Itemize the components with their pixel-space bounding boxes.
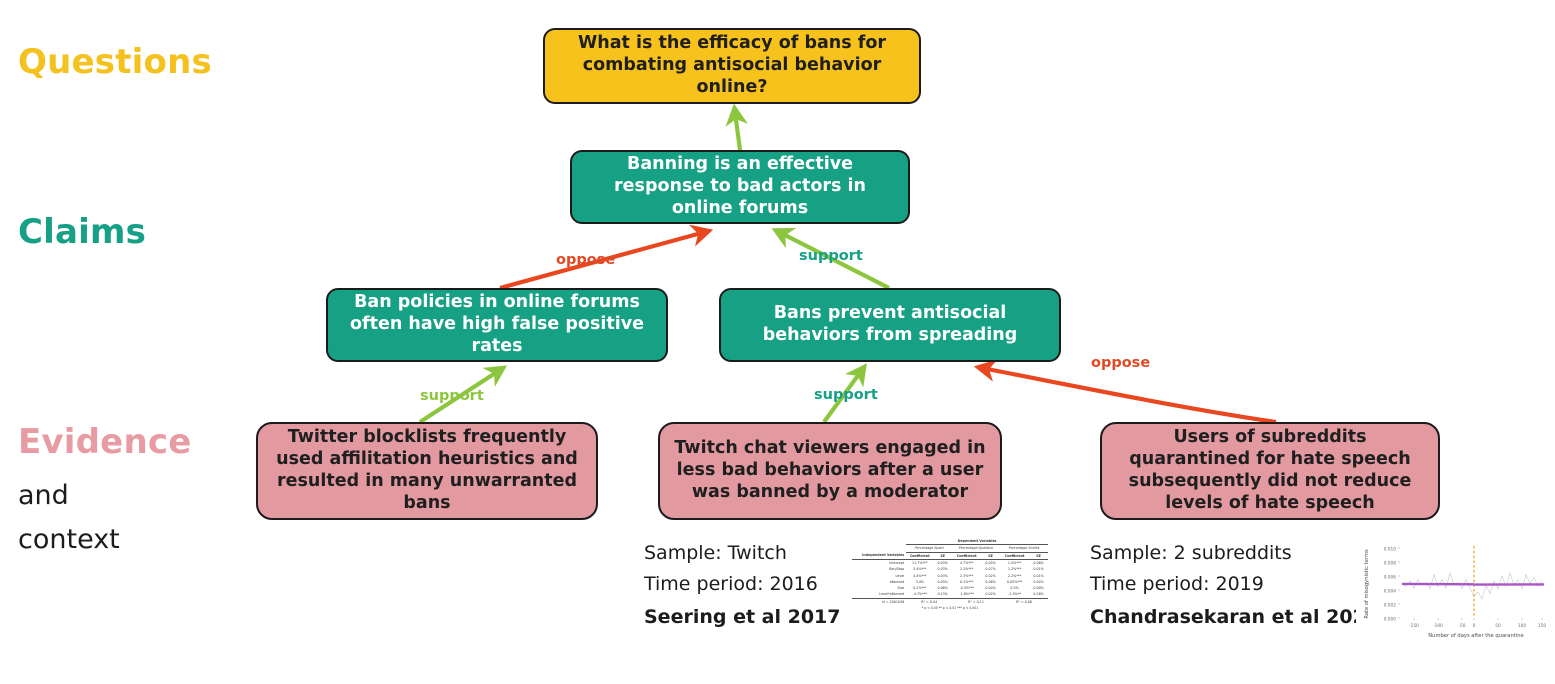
- edge-label-oppose-evidence-3: oppose: [1091, 355, 1150, 371]
- edge-label-support-evidence-1: support: [420, 388, 484, 404]
- evidence-node-twitch-chat[interactable]: Twitch chat viewers engaged in less bad …: [658, 422, 1002, 520]
- claim-node-prevent-spreading[interactable]: Bans prevent antisocial behaviors from s…: [719, 288, 1061, 362]
- claim-node-false-positives[interactable]: Ban policies in online forums often have…: [326, 288, 668, 362]
- question-node[interactable]: What is the efficacy of bans for combati…: [543, 28, 921, 104]
- edge-label-support-evidence-2: support: [814, 387, 878, 403]
- claim-node-banning-effective[interactable]: Banning is an effective response to bad …: [570, 150, 910, 224]
- diagram-canvas: Questions Claims Evidence and context: [0, 0, 1555, 684]
- evidence-node-twitter-blocklists[interactable]: Twitter blocklists frequently used affil…: [256, 422, 598, 520]
- edge-evidence-3-to-claim-right: [982, 368, 1276, 422]
- edge-claim-top-to-question: [735, 112, 740, 150]
- evidence-node-subreddit-quarantine[interactable]: Users of subreddits quarantined for hate…: [1100, 422, 1440, 520]
- edge-label-support-claim-right: support: [799, 248, 863, 264]
- edge-label-oppose-claim-left: oppose: [556, 252, 615, 268]
